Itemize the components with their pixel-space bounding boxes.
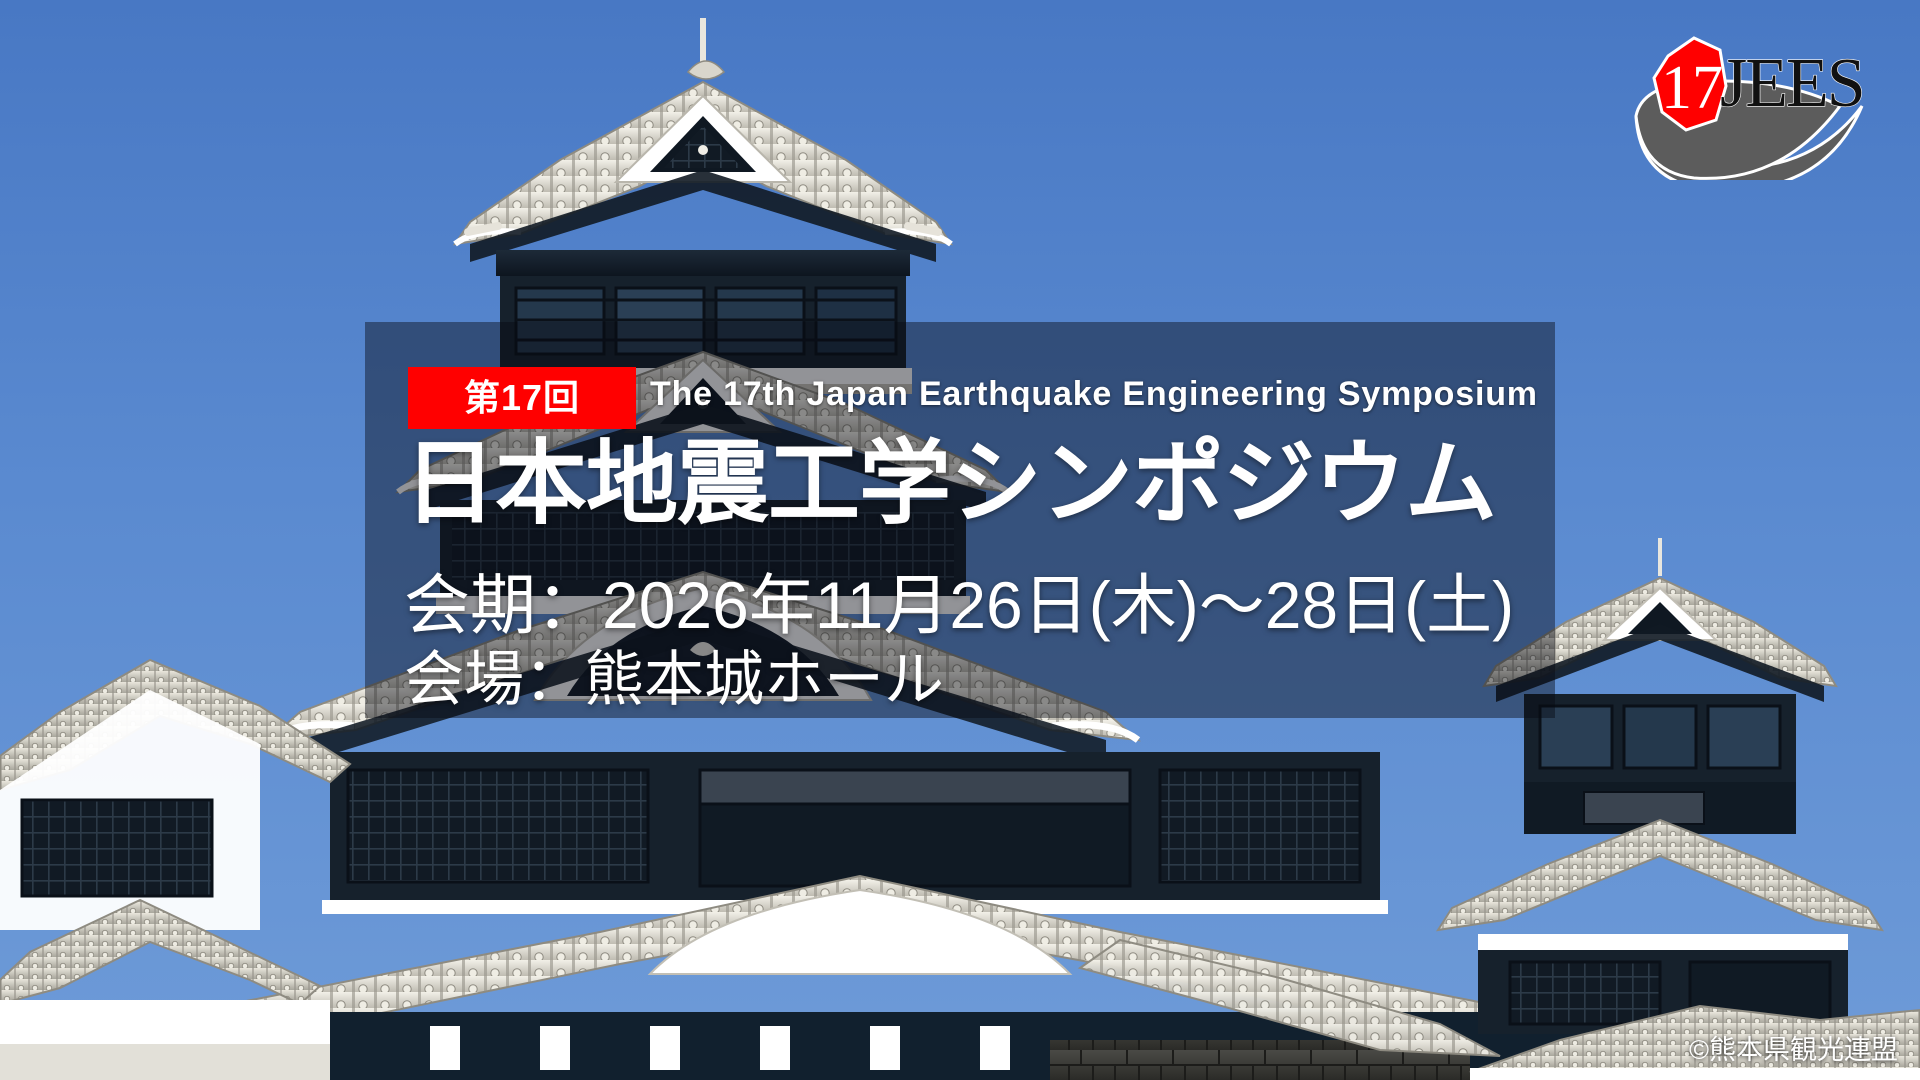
jees-logo: 17 JEES [1620,20,1880,180]
logo-number: 17 [1661,54,1723,122]
photo-credit: ©熊本県観光連盟 [1689,1037,1898,1064]
japanese-title: 日本地震工学シンポジウム [404,438,1496,530]
edition-badge: 第17回 [408,367,636,429]
poster-canvas: 第17回 The 17th Japan Earthquake Engineeri… [0,0,1920,1080]
event-date-line: 会期：2026年11月26日(木)～28日(土) [404,572,1514,638]
event-venue-line: 会場：熊本城ホール [404,650,944,710]
logo-wordmark: JEES [1720,45,1864,122]
english-title: The 17th Japan Earthquake Engineering Sy… [650,375,1538,414]
edition-badge-label: 第17回 [464,380,580,416]
